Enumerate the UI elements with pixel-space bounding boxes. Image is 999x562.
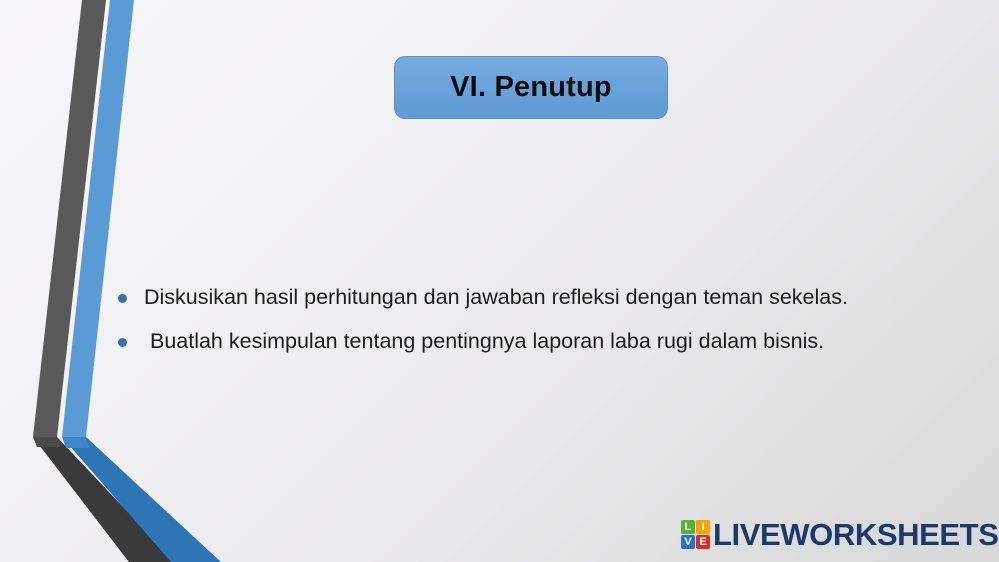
- bullet-dot-icon: [118, 338, 127, 347]
- blue-ribbon-lower: [62, 437, 221, 562]
- list-item: Diskusikan hasil perhitungan dan jawaban…: [118, 283, 948, 311]
- logo-tile-i-icon: I: [696, 520, 710, 534]
- logo-tile-l-icon: L: [681, 520, 695, 534]
- list-item-label: Buatlah kesimpulan tentang pentingnya la…: [144, 327, 824, 355]
- logo-tile-grid: L I V E: [681, 520, 710, 549]
- gray-ribbon-lower: [33, 437, 175, 562]
- blue-ribbon-bend: [62, 437, 90, 448]
- gray-ribbon-bend: [33, 437, 61, 447]
- list-item-label: Diskusikan hasil perhitungan dan jawaban…: [144, 283, 848, 311]
- slide-canvas: VI. Penutup Diskusikan hasil perhitungan…: [0, 0, 999, 562]
- bullet-dot-icon: [118, 294, 127, 303]
- liveworksheets-logo: L I V E LIVEWORKSHEETS: [681, 519, 998, 550]
- logo-tile-e-icon: E: [696, 535, 710, 549]
- logo-tile-v-icon: V: [681, 535, 695, 549]
- page-title: VI. Penutup: [450, 71, 612, 104]
- bullet-list: Diskusikan hasil perhitungan dan jawaban…: [118, 283, 948, 372]
- gray-ribbon-upper: [33, 0, 106, 437]
- list-item: Buatlah kesimpulan tentang pentingnya la…: [118, 327, 948, 355]
- slide-title-box: VI. Penutup: [394, 56, 668, 119]
- logo-wordmark: LIVEWORKSHEETS: [713, 519, 998, 550]
